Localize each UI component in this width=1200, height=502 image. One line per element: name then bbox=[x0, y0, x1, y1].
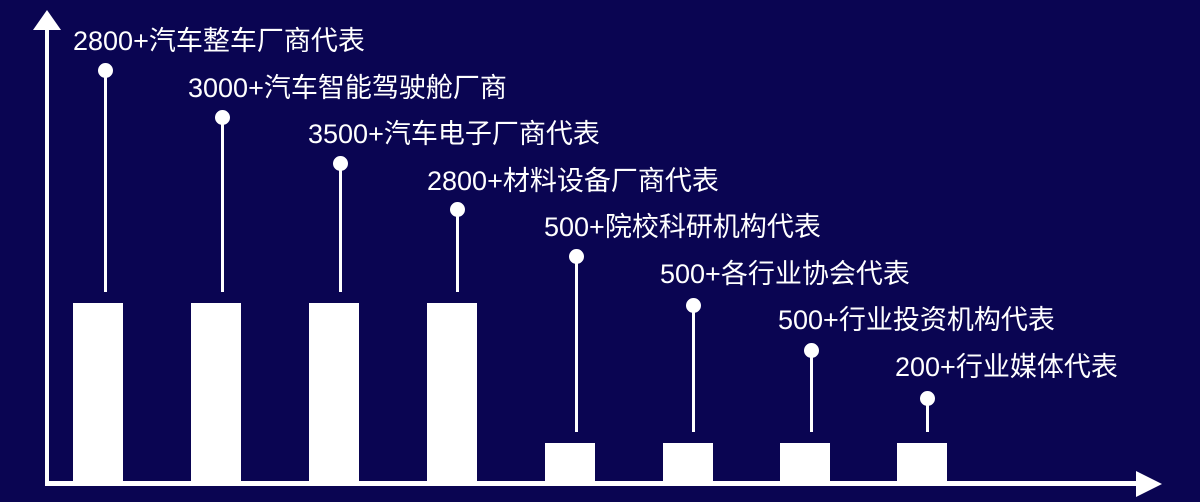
callout-stem-2 bbox=[221, 117, 224, 292]
bar-6 bbox=[663, 443, 713, 483]
callout-stem-1 bbox=[104, 70, 107, 292]
bar-7 bbox=[780, 443, 830, 483]
callout-dot-icon-6 bbox=[686, 298, 701, 313]
bar-label-6: 500+各行业协会代表 bbox=[660, 259, 910, 289]
callout-dot-icon-8 bbox=[920, 391, 935, 406]
bar-chart-attendee-breakdown: 2800+汽车整车厂商代表3000+汽车智能驾驶舱厂商3500+汽车电子厂商代表… bbox=[0, 0, 1200, 502]
bar-8 bbox=[897, 443, 947, 483]
bar-label-3: 3500+汽车电子厂商代表 bbox=[308, 119, 600, 149]
bar-label-8: 200+行业媒体代表 bbox=[895, 352, 1118, 382]
callout-dot-icon-3 bbox=[333, 156, 348, 171]
x-axis-arrow-icon bbox=[1136, 471, 1162, 497]
callout-stem-6 bbox=[692, 305, 695, 432]
bar-label-7: 500+行业投资机构代表 bbox=[778, 305, 1055, 335]
bar-label-5: 500+院校科研机构代表 bbox=[544, 212, 821, 242]
callout-dot-icon-1 bbox=[98, 63, 113, 78]
callout-stem-5 bbox=[575, 256, 578, 432]
callout-stem-4 bbox=[456, 209, 459, 292]
callout-stem-3 bbox=[339, 163, 342, 292]
y-axis-arrow-icon bbox=[33, 10, 61, 30]
bar-5 bbox=[545, 443, 595, 483]
bar-label-4: 2800+材料设备厂商代表 bbox=[427, 166, 719, 196]
bar-3 bbox=[309, 303, 359, 483]
bar-1 bbox=[73, 303, 123, 483]
bar-label-1: 2800+汽车整车厂商代表 bbox=[73, 26, 365, 56]
callout-dot-icon-7 bbox=[804, 343, 819, 358]
bar-2 bbox=[191, 303, 241, 483]
callout-dot-icon-5 bbox=[569, 249, 584, 264]
bar-4 bbox=[427, 303, 477, 483]
y-axis-line bbox=[45, 26, 49, 485]
bar-label-2: 3000+汽车智能驾驶舱厂商 bbox=[188, 73, 507, 103]
callout-dot-icon-4 bbox=[450, 202, 465, 217]
callout-stem-7 bbox=[810, 350, 813, 432]
callout-dot-icon-2 bbox=[215, 110, 230, 125]
